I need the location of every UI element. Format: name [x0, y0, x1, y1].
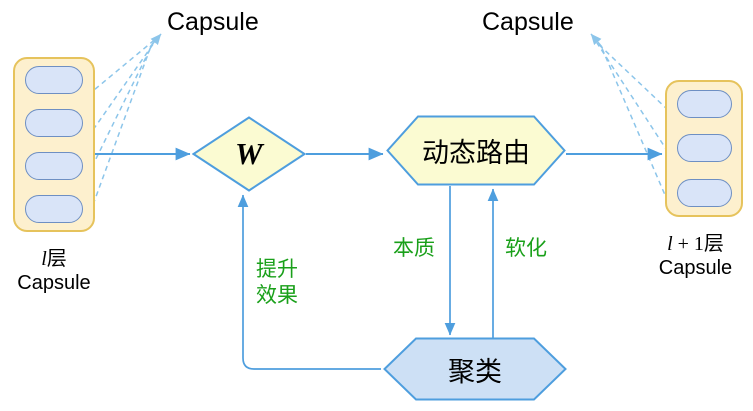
edge-label-tisheng-line2: 效果 — [256, 283, 298, 309]
node-dynamic-routing: 动态路由 — [386, 115, 566, 186]
diagram-canvas: W 动态路由 聚类 Capsule Capsule l层 Capsule l +… — [0, 0, 753, 411]
capsule-item — [677, 179, 732, 207]
dashed-callout-left — [88, 34, 161, 213]
edge-label-benzhi: 本质 — [393, 236, 435, 262]
node-clustering-label: 聚类 — [448, 350, 502, 389]
edge-label-ruanhua: 软化 — [505, 236, 547, 262]
edge-label-tisheng-line1: 提升 — [256, 257, 298, 283]
caption-layer-l-plus-1: l + 1层 Capsule — [638, 233, 753, 280]
caption-layer-l-plus-1-line1: l + 1层 — [638, 233, 753, 257]
capsule-group-layer-l-plus-1 — [665, 80, 743, 217]
capsule-group-layer-l — [13, 57, 95, 232]
connector-layer — [0, 0, 753, 411]
node-weight-matrix: W — [192, 116, 306, 192]
node-weight-matrix-label: W — [235, 136, 263, 172]
capsule-item — [25, 152, 83, 180]
caption-layer-l-plus-1-line2: Capsule — [638, 257, 753, 281]
caption-layer-l-suffix: 层 — [47, 248, 67, 270]
caption-layer-l-line2: Capsule — [0, 272, 108, 296]
caption-layer-l-plus-1-operator: + 1 — [673, 233, 704, 255]
caption-layer-l: l层 Capsule — [0, 248, 108, 295]
caption-layer-l-plus-1-suffix: 层 — [704, 233, 724, 255]
node-clustering: 聚类 — [383, 337, 567, 401]
caption-layer-l-line1: l层 — [0, 248, 108, 272]
callout-label-left-capsule: Capsule — [167, 8, 259, 37]
capsule-item — [25, 109, 83, 137]
capsule-item — [677, 90, 732, 118]
callout-label-right-capsule: Capsule — [482, 8, 574, 37]
dashed-callout-right — [591, 34, 668, 202]
capsule-item — [25, 66, 83, 94]
capsule-item — [677, 134, 732, 162]
capsule-item — [25, 195, 83, 223]
edge-label-tisheng-xiaoguo: 提升 效果 — [256, 257, 298, 308]
node-dynamic-routing-label: 动态路由 — [422, 131, 530, 170]
